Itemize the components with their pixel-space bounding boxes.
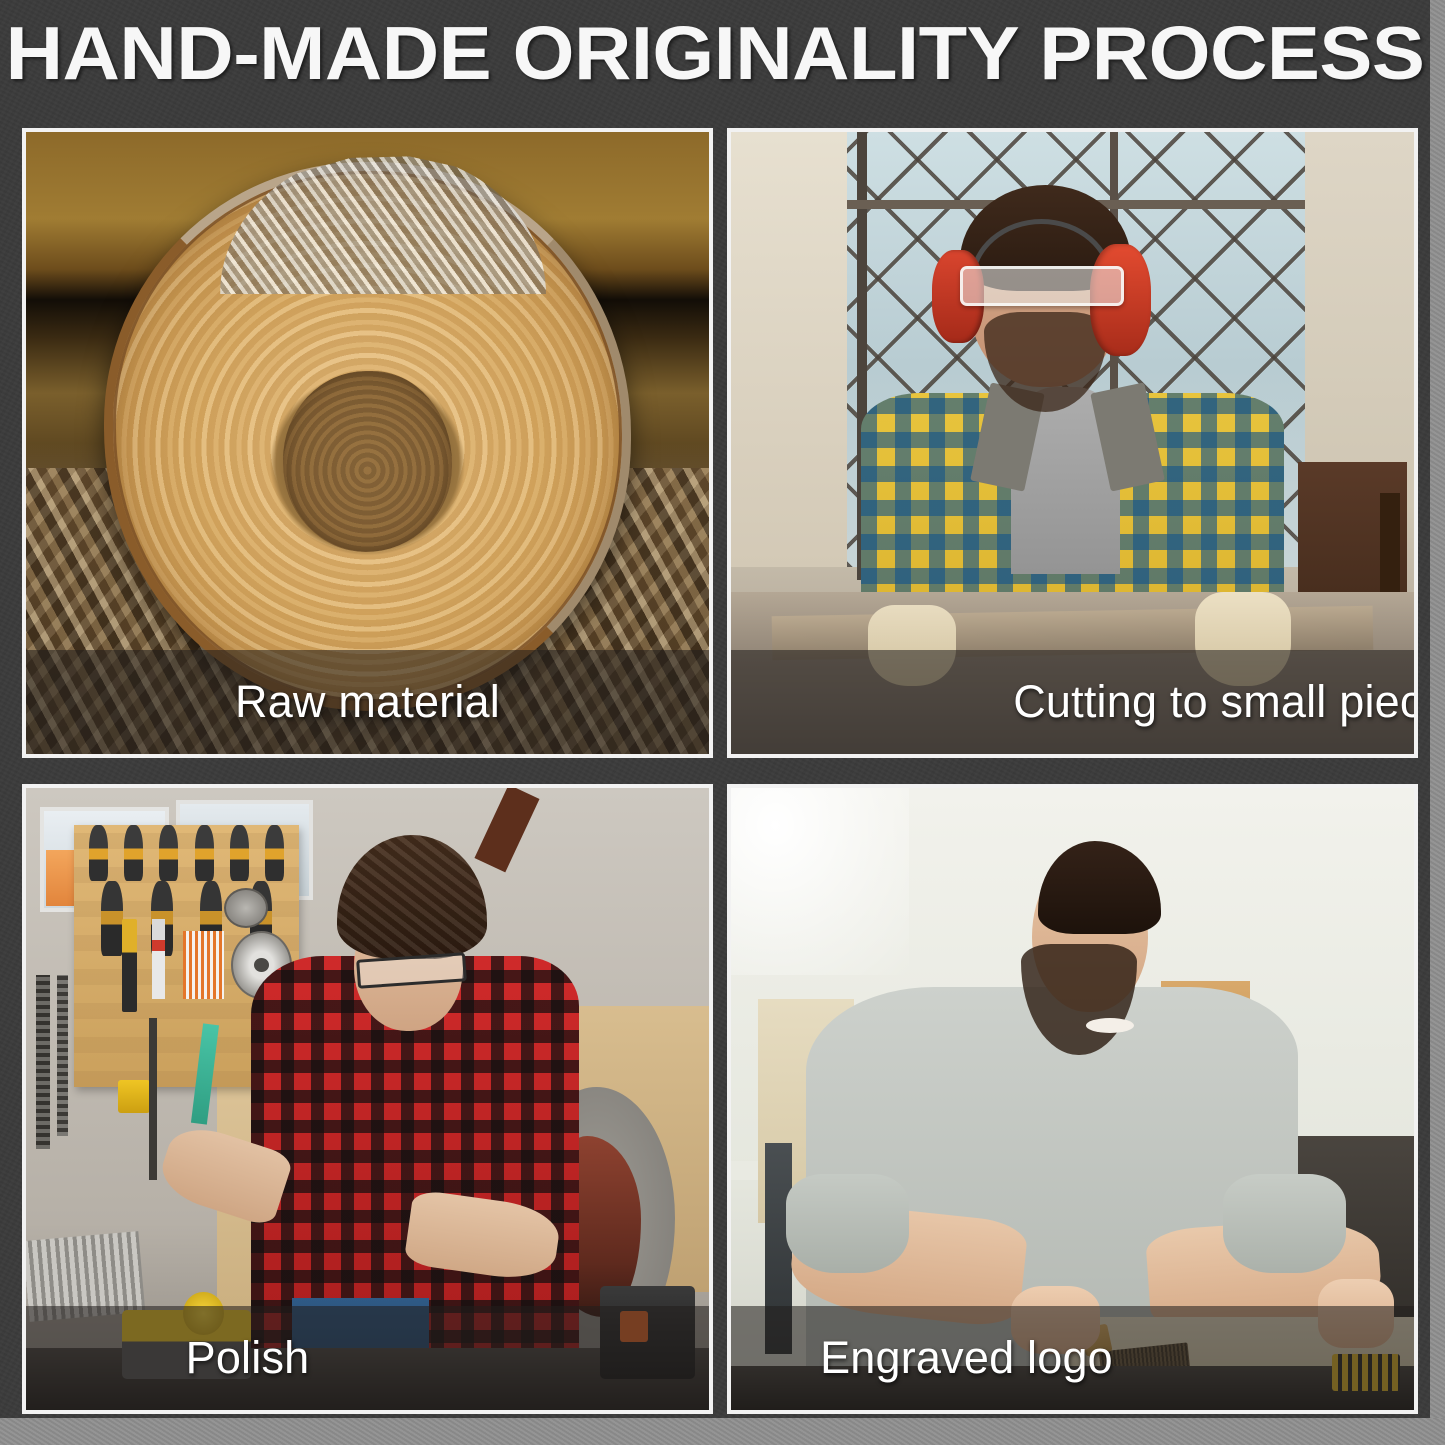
- hanging-chain-right: [57, 975, 68, 1137]
- panel-engraved-logo[interactable]: Engraved logo: [727, 784, 1418, 1414]
- frame-edge-bottom: [0, 1418, 1445, 1445]
- grinding-disc-small: [224, 888, 268, 928]
- pegboard-pliers-row-top: [81, 825, 293, 881]
- pliers-icon: [265, 825, 284, 881]
- pliers-icon: [101, 881, 123, 955]
- screwdriver-set: [183, 931, 224, 999]
- safety-goggles: [960, 266, 1124, 306]
- metal-rod: [149, 1018, 157, 1180]
- pliers-icon: [230, 825, 249, 881]
- panel-raw-material[interactable]: Raw material: [22, 128, 713, 758]
- caption-band-engraved-logo: Engraved logo: [731, 1306, 1414, 1410]
- caption-raw-material: Raw material: [235, 676, 500, 728]
- caption-engraved-logo: Engraved logo: [820, 1332, 1113, 1384]
- tape-measure-icon: [118, 1080, 149, 1112]
- panel-cutting[interactable]: Cutting to small piece: [727, 128, 1418, 758]
- frame-edge-right: [1430, 0, 1445, 1445]
- log-cross-section: [105, 163, 631, 710]
- process-panel-grid: Raw material: [22, 128, 1418, 1414]
- pliers-icon: [159, 825, 178, 881]
- rolled-sleeve-left: [786, 1174, 909, 1274]
- rolled-sleeve-right: [1223, 1174, 1346, 1274]
- hanging-chain-left: [36, 975, 50, 1149]
- pliers-icon: [89, 825, 108, 881]
- wall-left: [731, 132, 847, 567]
- caption-cutting: Cutting to small piece: [1013, 676, 1418, 728]
- utility-knife-icon: [122, 919, 137, 1012]
- caption-band-cutting: Cutting to small piece: [731, 650, 1414, 754]
- page-title: HAND-MADE ORIGINALITY PROCESS: [0, 16, 1445, 91]
- screwdriver-icon: [152, 919, 164, 1000]
- panel-polish[interactable]: Polish: [22, 784, 713, 1414]
- pliers-icon: [195, 825, 214, 881]
- smile: [1086, 1018, 1134, 1033]
- window-light: [731, 788, 909, 975]
- caption-polish: Polish: [186, 1332, 310, 1384]
- pliers-icon: [124, 825, 143, 881]
- caption-band-polish: Polish: [26, 1306, 709, 1410]
- caption-band-raw-material: Raw material: [26, 650, 709, 754]
- poster-canvas: HAND-MADE ORIGINALITY PROCESS Raw materi…: [0, 0, 1445, 1445]
